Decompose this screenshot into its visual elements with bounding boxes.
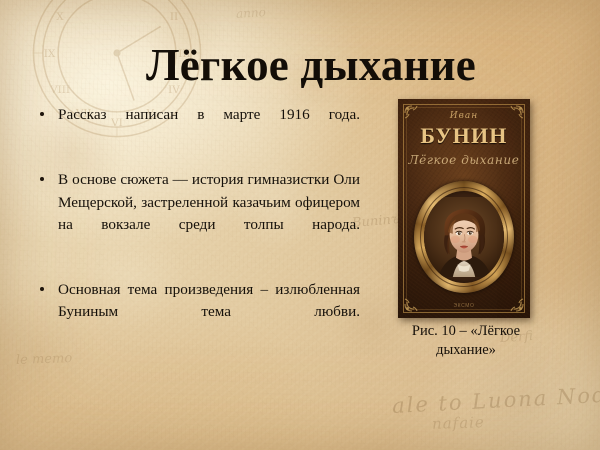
book-cover-image: Иван БУНИН Лёгкое дыхание — [398, 99, 530, 318]
bullet-text: В основе сюжета — история гимназистки Ол… — [58, 169, 360, 258]
figure-caption-line-1: Рис. 10 – «Лёгкое — [412, 323, 520, 339]
book-author-first-name: Иван — [398, 111, 530, 121]
portrait-young-woman — [424, 191, 504, 283]
bullet-text: Рассказ написан в марте 1916 года. — [58, 104, 360, 148]
book-cover-figure: Иван БУНИН Лёгкое дыхание — [398, 99, 530, 318]
slide-title: Лёгкое дыхание — [0, 42, 600, 89]
bullet-text: Основная тема произведения – излюбленная… — [58, 279, 360, 346]
presentation-slide: XII I II III IV V VI VII VIII IX X XI al… — [0, 0, 600, 450]
slide-content: Лёгкое дыхание Рассказ написан в марте 1… — [0, 0, 600, 450]
book-publisher-label: ЭКСМО — [398, 303, 530, 309]
bullet-item-main-theme: Основная тема произведения – излюбленная… — [36, 279, 360, 346]
portrait-gilt-frame — [414, 181, 514, 293]
bullet-dot-icon — [40, 177, 44, 181]
bullet-item-plot-summary: В основе сюжета — история гимназистки Ол… — [36, 169, 360, 258]
figure-caption: Рис. 10 – «Лёгкое дыхание» — [390, 322, 542, 359]
bullet-dot-icon — [40, 287, 44, 291]
book-title-script: Лёгкое дыхание — [398, 153, 530, 167]
bullet-item-publication-date: Рассказ написан в марте 1916 года. — [36, 104, 360, 148]
book-author-last-name: БУНИН — [398, 123, 530, 149]
bullet-dot-icon — [40, 112, 44, 116]
bullet-list: Рассказ написан в марте 1916 года. В осн… — [36, 104, 360, 346]
figure-caption-line-2: дыхание» — [436, 342, 496, 358]
